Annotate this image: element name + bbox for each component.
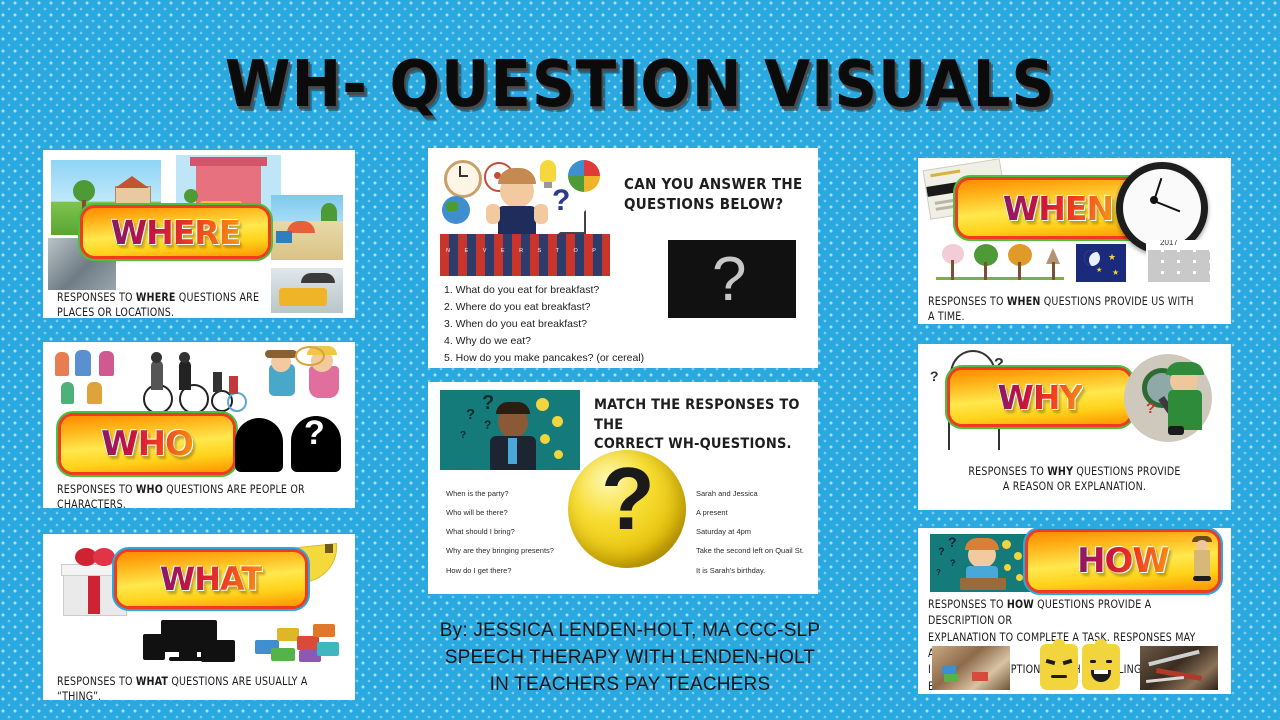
card-what[interactable]: WHAT RESPONSES TO WHAT QUESTIONS ARE USU… <box>43 534 355 700</box>
what-caption-bold: WHAT <box>136 674 168 688</box>
quiz-question-5: 5. How do you make pancakes? (or cereal) <box>444 350 674 367</box>
person-silhouette-image <box>235 418 283 472</box>
card-how[interactable]: ? ? ? ? HOW RESPONSES TO HOW QUESTIONS P… <box>918 528 1231 694</box>
never-stop-learning-image: ? N E V E R S T O P L E A R N I N G <box>440 156 610 276</box>
why-caption-post: QUESTIONS PROVIDE <box>1073 464 1180 478</box>
author-credit: By: JESSICA LENDEN-HOLT, MA CCC-SLP SPEE… <box>340 618 920 699</box>
credit-line-1: By: JESSICA LENDEN-HOLT, MA CCC-SLP <box>340 618 920 645</box>
card-who[interactable]: WHO ? RESPONSES TO WHO QUESTIONS ARE PEO… <box>43 342 355 508</box>
where-word: WHERE <box>111 213 241 252</box>
lego-bricks-image <box>251 616 343 668</box>
how-word: HOW <box>1077 541 1169 581</box>
detective-silhouette-image <box>1190 536 1216 584</box>
lego-face-angry-image <box>1040 644 1078 690</box>
when-caption-bold: WHEN <box>1007 294 1041 308</box>
match-answer-3: Saturday at 4pm <box>696 522 816 541</box>
who-word: WHO <box>101 424 193 464</box>
families-wheelchair-image <box>53 348 131 410</box>
why-word: WHY <box>998 378 1083 417</box>
page-title: WH- QUESTION VISUALS <box>45 48 1235 122</box>
devices-image <box>143 620 235 668</box>
family-on-bicycles-image <box>139 350 249 412</box>
night-sky-image: ★ ★ ★ <box>1076 244 1126 282</box>
quiz-heading: CAN YOU ANSWER THE QUESTIONS BELOW? <box>624 174 804 215</box>
quiz-heading-line2: QUESTIONS BELOW? <box>624 194 804 214</box>
what-banner: WHAT <box>117 552 305 606</box>
where-caption-pre: RESPONSES TO <box>57 290 136 304</box>
where-banner: WHERE <box>83 208 268 256</box>
who-caption: RESPONSES TO WHO QUESTIONS ARE PEOPLE OR… <box>57 482 324 508</box>
why-caption-bold: WHY <box>1047 464 1073 478</box>
card-quiz[interactable]: ? N E V E R S T O P L E A R N I N G CAN … <box>428 148 818 368</box>
how-caption-pre: RESPONSES TO <box>928 597 1007 611</box>
match-heading-line1: MATCH THE RESPONSES TO THE <box>594 396 809 435</box>
four-seasons-trees-image <box>936 242 1064 284</box>
chalkboard-question-mark: ? <box>712 244 746 315</box>
who-caption-pre: RESPONSES TO <box>57 482 136 496</box>
when-word: WHEN <box>1003 189 1113 228</box>
what-word: WHAT <box>160 560 262 598</box>
match-question-5: How do I get there? <box>446 561 566 580</box>
quiz-question-3: 3. When do you eat breakfast? <box>444 316 674 333</box>
child-building-blocks-image <box>932 646 1010 690</box>
match-answer-4: Take the second left on Quail St. <box>696 541 816 560</box>
calendar-image: 2017 <box>1146 240 1212 284</box>
match-question-4: Why are they bringing presents? <box>446 541 566 560</box>
child-reading-illustration: ? ? ? ? <box>930 534 1034 592</box>
tools-photo-image <box>1140 646 1218 690</box>
quiz-question-4: 4. Why do we eat? <box>444 333 674 350</box>
when-caption: RESPONSES TO WHEN QUESTIONS PROVIDE US W… <box>928 294 1200 323</box>
match-answer-1: Sarah and Jessica <box>696 484 816 503</box>
question-silhouette-image: ? <box>291 416 341 472</box>
card-when[interactable]: WHEN ★ ★ ★ 2017 RESPON <box>918 158 1231 324</box>
beach-umbrella-image <box>271 195 343 260</box>
why-caption-pre: RESPONSES TO <box>968 464 1047 478</box>
quiz-heading-line1: CAN YOU ANSWER THE <box>624 174 804 194</box>
question-ball-glyph: ? <box>601 455 655 543</box>
match-heading: MATCH THE RESPONSES TO THE CORRECT WH-QU… <box>594 396 809 455</box>
match-answer-column: Sarah and Jessica A present Saturday at … <box>696 484 816 580</box>
lego-face-happy-image <box>1082 644 1120 690</box>
quiz-question-2: 2. Where do you eat breakfast? <box>444 299 674 316</box>
card-where[interactable]: WHERE RESPONSES TO WHERE QUESTIONS ARE P… <box>43 150 355 318</box>
thinking-man-illustration: ? ? ? ? <box>440 390 580 470</box>
question-ball-image: ? <box>568 450 686 568</box>
what-caption: RESPONSES TO WHAT QUESTIONS ARE USUALLY … <box>57 674 324 700</box>
match-question-column: When is the party? Who will be there? Wh… <box>446 484 566 580</box>
card-match[interactable]: ? ? ? ? MATCH THE RESPONSES TO THE CORRE… <box>428 382 818 594</box>
who-caption-bold: WHO <box>136 482 163 496</box>
quiz-question-list: 1. What do you eat for breakfast? 2. Whe… <box>444 282 674 367</box>
chalkboard-image: ? <box>668 240 796 318</box>
match-answer-2: A present <box>696 503 816 522</box>
match-question-2: Who will be there? <box>446 503 566 522</box>
match-question-3: What should I bring? <box>446 522 566 541</box>
playground-image <box>271 268 343 313</box>
quiz-question-1: 1. What do you eat for breakfast? <box>444 282 674 299</box>
match-question-1: When is the party? <box>446 484 566 503</box>
where-caption: RESPONSES TO WHERE QUESTIONS ARE PLACES … <box>57 290 278 318</box>
where-caption-bold: WHERE <box>136 290 176 304</box>
credit-line-2: SPEECH THERAPY WITH LENDEN-HOLT <box>340 645 920 672</box>
detective-magnifier-image: ? <box>1124 354 1212 442</box>
match-answer-5: It is Sarah's birthday. <box>696 561 816 580</box>
why-caption: RESPONSES TO WHY QUESTIONS PROVIDE A REA… <box>931 464 1219 493</box>
calendar-year: 2017 <box>1160 240 1178 247</box>
who-banner: WHO <box>61 416 233 472</box>
slide-canvas: WH- QUESTION VISUALS WHERE <box>0 0 1280 720</box>
card-why[interactable]: ? ? WHY ? RESPONSES TO WHY QUESTIONS PRO… <box>918 344 1231 510</box>
what-caption-pre: RESPONSES TO <box>57 674 136 688</box>
cowboy-kids-image <box>261 346 349 408</box>
when-caption-pre: RESPONSES TO <box>928 294 1007 308</box>
how-caption-bold: HOW <box>1007 597 1034 611</box>
credit-line-3: IN TEACHERS PAY TEACHERS <box>340 672 920 699</box>
why-banner: WHY <box>950 370 1130 424</box>
why-caption-line2: A REASON OR EXPLANATION. <box>931 479 1219 494</box>
